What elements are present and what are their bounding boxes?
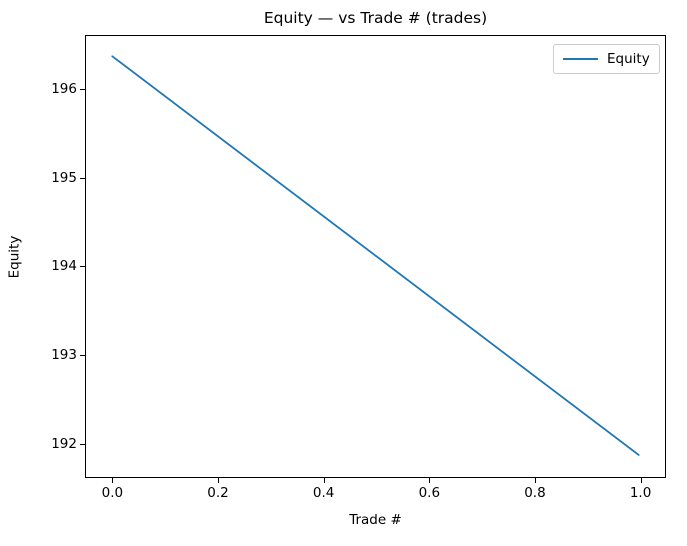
y-axis-label: Equity: [0, 35, 28, 478]
x-tick-mark: [641, 477, 642, 483]
x-tick-label: 0.4: [313, 485, 334, 501]
line-series-equity: [112, 56, 638, 455]
chart-legend: Equity: [553, 44, 660, 74]
legend-swatch-equity: [563, 58, 598, 60]
x-tick-label: 0.6: [419, 485, 440, 501]
x-tick-mark: [535, 477, 536, 483]
x-tick-mark: [429, 477, 430, 483]
plot-area: 1921931941951960.00.20.40.60.81.0: [85, 35, 666, 478]
x-tick-mark: [218, 477, 219, 483]
x-tick-mark: [324, 477, 325, 483]
y-tick-mark: [80, 266, 86, 267]
x-axis-label: Trade #: [85, 512, 666, 528]
x-tick-label: 0.2: [207, 485, 228, 501]
legend-label-equity: Equity: [607, 50, 650, 68]
y-tick-label: 193: [51, 347, 77, 363]
y-tick-mark: [80, 178, 86, 179]
line-series-canvas: [86, 36, 665, 477]
figure-canvas: Equity — vs Trade # (trades) Equity 1921…: [0, 0, 687, 546]
y-tick-label: 195: [51, 170, 77, 186]
x-tick-label: 1.0: [630, 485, 651, 501]
chart-title: Equity — vs Trade # (trades): [85, 8, 666, 28]
y-tick-mark: [80, 89, 86, 90]
y-tick-mark: [80, 355, 86, 356]
y-tick-label: 194: [51, 258, 77, 274]
y-tick-mark: [80, 444, 86, 445]
x-tick-mark: [112, 477, 113, 483]
x-tick-label: 0.0: [102, 485, 123, 501]
y-tick-label: 192: [51, 436, 77, 452]
y-axis-label-text: Equity: [6, 235, 22, 278]
x-tick-label: 0.8: [524, 485, 545, 501]
y-tick-label: 196: [51, 81, 77, 97]
